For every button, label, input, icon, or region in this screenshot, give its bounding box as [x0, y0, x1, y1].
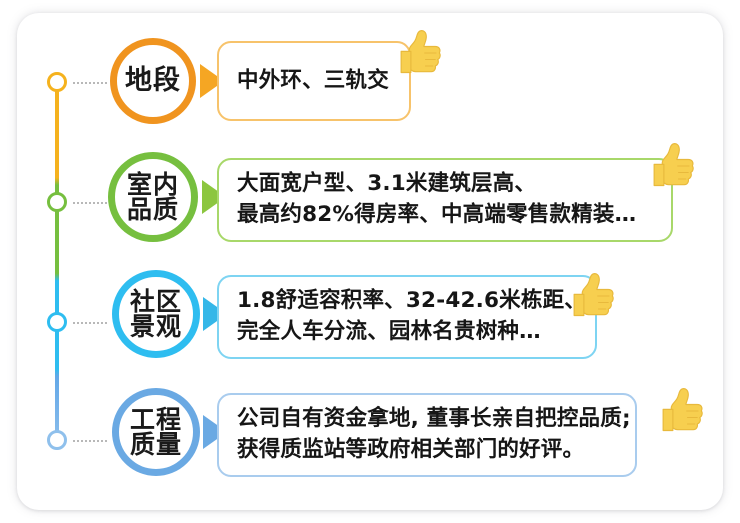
- timeline-node-1: [47, 72, 67, 92]
- thumbs-up-icon: [655, 385, 707, 437]
- bubble-community-landscape[interactable]: 1.8舒适容积率、32-42.6米栋距、 完全人车分流、园林名贵树种…: [217, 275, 597, 359]
- badge-community-landscape[interactable]: 社区 景观: [112, 270, 200, 358]
- bubble-interior-quality[interactable]: 大面宽户型、3.1米建筑层高、 最高约82%得房率、中高端零售款精装…: [217, 158, 673, 242]
- badge-location[interactable]: 地段: [110, 38, 196, 124]
- timeline-connector-4: [73, 440, 107, 442]
- thumbs-up-icon: [393, 27, 445, 79]
- bubble-engineering-quality[interactable]: 公司自有资金拿地, 董事长亲自把控品质; 获得质监站等政府相关部门的好评。: [217, 393, 637, 477]
- bubble-location[interactable]: 中外环、三轨交: [217, 41, 411, 121]
- badge-interior-quality-line-1: 室内: [127, 172, 179, 198]
- timeline-connector-1: [73, 82, 107, 84]
- badge-engineering-quality-line-1: 工程: [130, 407, 182, 433]
- thumbs-up-icon: [646, 140, 698, 192]
- bubble-community-landscape-line-2: 完全人车分流、园林名贵树种…: [237, 317, 577, 348]
- bubble-location-line-1: 中外环、三轨交: [237, 66, 391, 97]
- timeline-connector-2: [73, 202, 107, 204]
- badge-location-line-1: 地段: [125, 67, 181, 95]
- badge-engineering-quality-line-2: 质量: [130, 432, 182, 458]
- badge-engineering-quality[interactable]: 工程 质量: [112, 388, 200, 476]
- timeline-node-4: [47, 430, 67, 450]
- badge-community-landscape-line-2: 景观: [130, 314, 182, 340]
- badge-interior-quality[interactable]: 室内 品质: [108, 152, 198, 242]
- bubble-engineering-quality-line-1: 公司自有资金拿地, 董事长亲自把控品质;: [237, 404, 617, 435]
- timeline-node-3: [47, 312, 67, 332]
- badge-community-landscape-line-1: 社区: [130, 289, 182, 315]
- timeline-connector-3: [73, 322, 107, 324]
- badge-interior-quality-line-2: 品质: [127, 197, 179, 223]
- timeline-node-2: [47, 192, 67, 212]
- bubble-interior-quality-line-1: 大面宽户型、3.1米建筑层高、: [237, 169, 653, 200]
- thumbs-up-icon: [566, 270, 618, 322]
- bubble-community-landscape-line-1: 1.8舒适容积率、32-42.6米栋距、: [237, 286, 577, 317]
- bubble-interior-quality-line-2: 最高约82%得房率、中高端零售款精装…: [237, 200, 653, 231]
- bubble-engineering-quality-line-2: 获得质监站等政府相关部门的好评。: [237, 435, 617, 466]
- infographic-canvas: 地段 中外环、三轨交 室内 品质 大面宽户型、3.1米建筑层高、 最高约82%得…: [0, 0, 740, 523]
- timeline-rail: [55, 82, 59, 450]
